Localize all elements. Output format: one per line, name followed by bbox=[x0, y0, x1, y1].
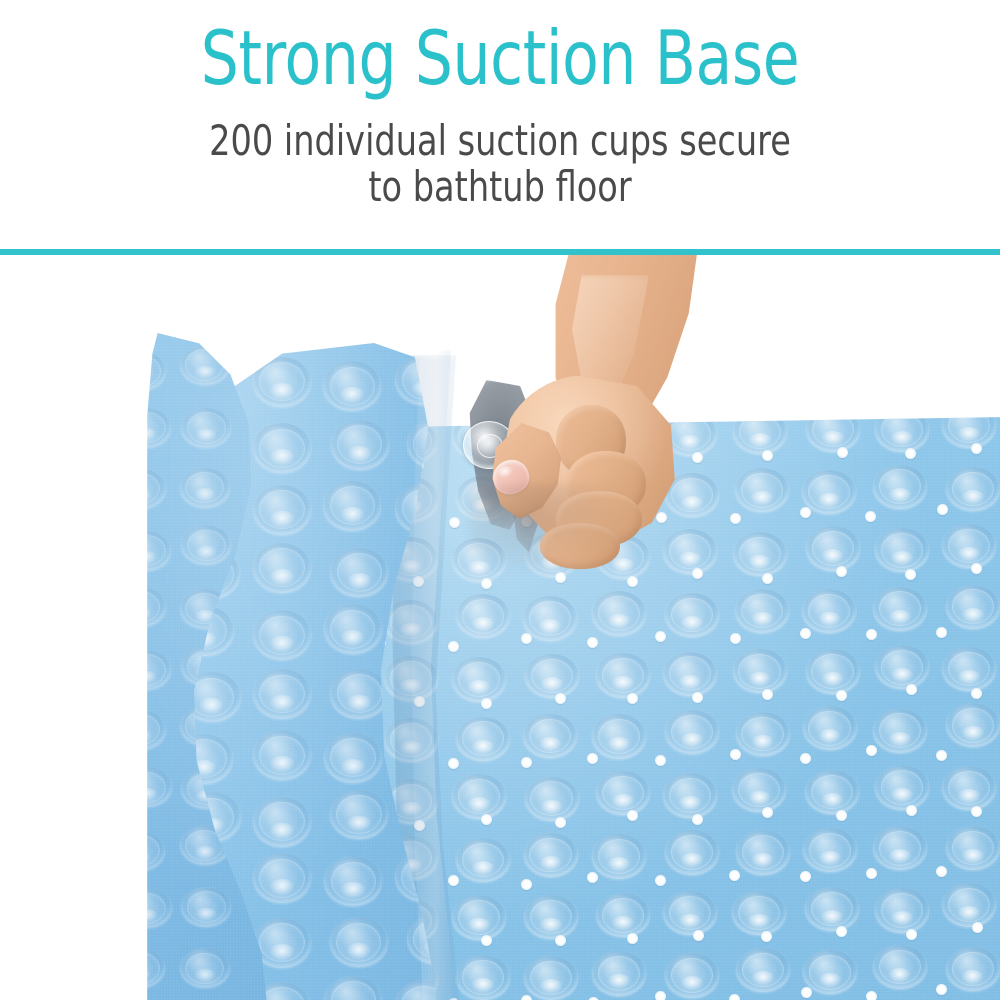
suction-cup bbox=[253, 485, 311, 535]
drain-hole bbox=[836, 926, 847, 937]
drain-hole bbox=[866, 745, 877, 756]
suction-cup bbox=[663, 652, 717, 696]
suction-cup bbox=[121, 408, 171, 448]
suction-cup bbox=[942, 647, 996, 691]
drain-hole bbox=[729, 994, 740, 1000]
drain-hole bbox=[800, 507, 811, 518]
suction-cup bbox=[946, 826, 1000, 870]
suction-cup bbox=[180, 948, 230, 988]
suction-cup bbox=[596, 653, 650, 697]
suction-cup bbox=[180, 468, 230, 508]
drain-hole bbox=[414, 696, 425, 707]
suction-cup bbox=[875, 645, 929, 689]
suction-cup bbox=[253, 853, 311, 903]
suction-cup bbox=[116, 710, 166, 750]
suction-cup bbox=[331, 420, 389, 470]
suction-cup bbox=[181, 887, 231, 927]
drain-hole bbox=[762, 450, 773, 461]
suction-cup bbox=[323, 361, 381, 411]
held-suction-cup bbox=[463, 421, 515, 469]
suction-cup bbox=[253, 797, 311, 847]
drain-hole bbox=[971, 688, 982, 699]
suction-cup bbox=[395, 355, 453, 405]
suction-cup bbox=[803, 706, 857, 750]
suction-cup bbox=[330, 669, 388, 719]
subtitle-line-2: to bathtub floor bbox=[100, 164, 900, 210]
suction-cup bbox=[253, 423, 311, 473]
suction-cup bbox=[253, 357, 311, 407]
suction-cup bbox=[253, 543, 311, 593]
suction-cup bbox=[115, 831, 165, 871]
suction-cup bbox=[384, 600, 438, 644]
suction-cup bbox=[736, 830, 790, 874]
suction-cup bbox=[525, 533, 579, 577]
suction-cup bbox=[663, 773, 717, 817]
drain-hole bbox=[521, 879, 532, 890]
suction-cup bbox=[592, 591, 646, 635]
suction-cup bbox=[253, 669, 311, 719]
suction-cup bbox=[802, 589, 856, 633]
suction-cup bbox=[806, 649, 860, 693]
drain-hole bbox=[905, 448, 916, 459]
subtitle-line-1: 200 individual suction cups secure bbox=[100, 118, 900, 164]
drain-hole bbox=[481, 578, 492, 589]
drain-hole bbox=[971, 443, 982, 454]
drain-hole bbox=[971, 563, 982, 574]
suction-cup bbox=[942, 766, 996, 810]
drain-hole bbox=[692, 692, 703, 703]
drain-hole bbox=[413, 576, 424, 587]
drain-hole bbox=[906, 805, 917, 816]
suction-cup bbox=[733, 649, 787, 693]
suction-cup bbox=[802, 470, 856, 514]
suction-cup bbox=[330, 790, 388, 840]
drain-hole bbox=[414, 820, 425, 831]
suction-cup bbox=[873, 587, 927, 631]
drain-hole bbox=[865, 511, 876, 522]
suction-cup bbox=[452, 895, 506, 939]
drain-hole bbox=[587, 753, 598, 764]
drain-hole bbox=[481, 814, 492, 825]
suction-cup bbox=[803, 828, 857, 872]
drain-hole bbox=[448, 875, 459, 886]
drain-hole bbox=[761, 931, 772, 942]
suction-cup bbox=[181, 408, 231, 448]
suction-cup bbox=[875, 765, 929, 809]
drain-hole bbox=[521, 633, 532, 644]
suction-cup bbox=[330, 917, 388, 967]
suction-cup bbox=[665, 953, 719, 997]
suction-cup bbox=[524, 956, 578, 1000]
drain-hole bbox=[627, 933, 638, 944]
suction-cup bbox=[253, 610, 311, 660]
suction-cup bbox=[324, 604, 382, 654]
suction-cup bbox=[873, 945, 927, 989]
drain-hole bbox=[762, 573, 773, 584]
skin-highlight bbox=[560, 275, 680, 445]
drain-hole bbox=[655, 991, 666, 1000]
suction-cup bbox=[873, 709, 927, 753]
drain-hole bbox=[655, 875, 666, 886]
drain-hole bbox=[521, 995, 532, 1000]
drain-hole bbox=[837, 447, 848, 458]
suction-cup bbox=[805, 770, 859, 814]
drain-hole bbox=[555, 456, 566, 467]
drain-hole bbox=[655, 755, 666, 766]
drain-hole bbox=[587, 515, 598, 526]
drain-hole bbox=[448, 758, 459, 769]
suction-cup bbox=[592, 714, 646, 758]
suction-cup bbox=[330, 548, 388, 598]
suction-cup bbox=[733, 410, 787, 454]
suction-cup bbox=[663, 412, 717, 456]
suction-cup bbox=[456, 838, 510, 882]
drain-hole bbox=[521, 757, 532, 768]
drain-hole bbox=[627, 693, 638, 704]
suction-cup bbox=[732, 768, 786, 812]
drain-hole bbox=[936, 627, 947, 638]
drain-hole bbox=[729, 870, 740, 881]
suction-cup bbox=[452, 538, 506, 582]
drain-hole bbox=[692, 814, 703, 825]
drain-hole bbox=[692, 452, 703, 463]
drain-hole bbox=[762, 689, 773, 700]
drain-hole bbox=[730, 513, 741, 524]
suction-cup bbox=[525, 777, 579, 821]
suction-cup bbox=[384, 656, 438, 700]
suction-cup bbox=[875, 888, 929, 932]
drain-hole bbox=[627, 576, 638, 587]
suction-cup bbox=[735, 589, 789, 633]
suction-cup bbox=[665, 473, 719, 517]
suction-cup bbox=[946, 703, 1000, 747]
suction-cup bbox=[181, 525, 231, 565]
header-banner: Strong Suction Base 200 individual sucti… bbox=[0, 0, 1000, 250]
drain-hole bbox=[730, 633, 741, 644]
drain-hole bbox=[905, 569, 916, 580]
suction-cup bbox=[592, 951, 646, 995]
suction-cup bbox=[665, 830, 719, 874]
suction-cup bbox=[122, 767, 172, 807]
suction-cup bbox=[663, 891, 717, 935]
drain-hole bbox=[693, 930, 704, 941]
suction-cup bbox=[523, 596, 577, 640]
drain-hole bbox=[972, 922, 983, 933]
drain-hole bbox=[906, 929, 917, 940]
suction-cup bbox=[324, 856, 382, 906]
drain-hole bbox=[448, 641, 459, 652]
subtitle-block: 200 individual suction cups secure to ba… bbox=[0, 118, 1000, 210]
suction-cup bbox=[875, 528, 929, 572]
suction-cup bbox=[524, 833, 578, 877]
drain-hole bbox=[587, 872, 598, 883]
suction-cup bbox=[732, 891, 786, 935]
suction-cup bbox=[384, 718, 438, 762]
drain-hole bbox=[801, 987, 812, 998]
suction-cup bbox=[324, 733, 382, 783]
suction-cup bbox=[452, 774, 506, 818]
drain-hole bbox=[866, 868, 877, 879]
suction-cup bbox=[803, 950, 857, 994]
suction-cup bbox=[116, 587, 166, 627]
drain-hole bbox=[836, 690, 847, 701]
suction-cup bbox=[733, 532, 787, 576]
drain-hole bbox=[762, 807, 773, 818]
drain-hole bbox=[937, 504, 948, 515]
suction-cup bbox=[873, 826, 927, 870]
drain-hole bbox=[555, 693, 566, 704]
suction-cup bbox=[456, 955, 510, 999]
suction-cup bbox=[663, 529, 717, 573]
drain-hole bbox=[800, 628, 811, 639]
suction-cup bbox=[122, 888, 172, 928]
suction-cup bbox=[946, 585, 1000, 629]
drain-hole bbox=[866, 629, 877, 640]
drain-hole bbox=[655, 631, 666, 642]
drain-hole bbox=[936, 984, 947, 995]
drain-hole bbox=[555, 572, 566, 583]
suction-cup bbox=[806, 408, 860, 452]
suction-cup bbox=[596, 412, 650, 456]
page-title: Strong Suction Base bbox=[100, 18, 900, 98]
drain-hole bbox=[692, 568, 703, 579]
drain-hole bbox=[971, 806, 982, 817]
suction-cup bbox=[942, 524, 996, 568]
suction-cup bbox=[946, 467, 1000, 511]
drain-hole bbox=[555, 935, 566, 946]
suction-cup bbox=[452, 657, 506, 701]
drain-hole bbox=[626, 452, 637, 463]
drain-hole bbox=[627, 810, 638, 821]
suction-cup bbox=[665, 710, 719, 754]
suction-cup bbox=[873, 465, 927, 509]
suction-cup bbox=[736, 948, 790, 992]
suction-cup bbox=[596, 893, 650, 937]
suction-cup bbox=[946, 947, 1000, 991]
suction-cup bbox=[253, 730, 311, 780]
suction-cup bbox=[116, 351, 166, 391]
suction-cup bbox=[121, 650, 171, 690]
suction-cup bbox=[942, 404, 996, 448]
drain-hole bbox=[481, 698, 492, 709]
drain-hole bbox=[587, 637, 598, 648]
drain-hole bbox=[836, 810, 847, 821]
suction-cup bbox=[116, 469, 166, 509]
suction-cup bbox=[180, 345, 230, 385]
suction-cup bbox=[805, 887, 859, 931]
product-photo bbox=[0, 255, 1000, 1000]
suction-cup bbox=[456, 594, 510, 638]
drain-hole bbox=[906, 684, 917, 695]
drain-hole bbox=[481, 935, 492, 946]
drain-hole bbox=[656, 512, 667, 523]
drain-hole bbox=[866, 991, 877, 1000]
suction-cup bbox=[523, 714, 577, 758]
product-feature-image: Strong Suction Base 200 individual sucti… bbox=[0, 0, 1000, 1000]
suction-cup bbox=[525, 654, 579, 698]
suction-cup bbox=[596, 535, 650, 579]
drain-hole bbox=[555, 817, 566, 828]
suction-cup bbox=[592, 472, 646, 516]
suction-cup bbox=[942, 883, 996, 927]
suction-cup bbox=[592, 834, 646, 878]
suction-cup bbox=[736, 712, 790, 756]
drain-hole bbox=[800, 753, 811, 764]
drain-hole bbox=[936, 750, 947, 761]
drain-hole bbox=[936, 866, 947, 877]
suction-cup bbox=[121, 531, 171, 571]
suction-cup bbox=[596, 771, 650, 815]
drain-hole bbox=[449, 517, 460, 528]
drain-hole bbox=[836, 566, 847, 577]
suction-cup bbox=[875, 408, 929, 452]
suction-cup bbox=[456, 717, 510, 761]
suction-cup bbox=[735, 468, 789, 512]
suction-cup bbox=[665, 593, 719, 637]
drain-hole bbox=[800, 871, 811, 882]
suction-cup bbox=[524, 895, 578, 939]
suction-cup bbox=[806, 526, 860, 570]
suction-cup bbox=[323, 481, 381, 531]
suction-cup bbox=[115, 948, 165, 988]
drain-hole bbox=[730, 749, 741, 760]
suction-cup bbox=[324, 976, 382, 1000]
drain-hole bbox=[588, 997, 599, 1000]
